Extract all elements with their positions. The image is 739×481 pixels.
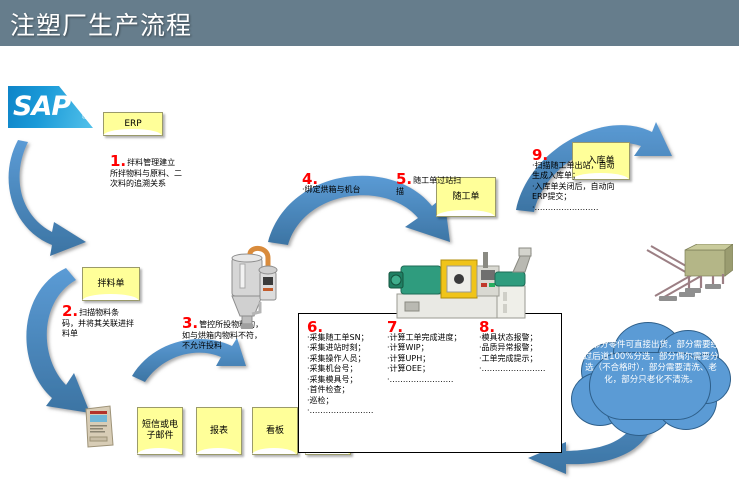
- list-item: ERP提交；: [532, 192, 636, 203]
- step-1-number: 1.: [110, 152, 126, 170]
- step-5: 5.随工单过站扫描: [396, 174, 468, 197]
- step-2-number: 2.: [62, 302, 78, 320]
- warehouse-rack-image: [645, 244, 733, 310]
- list-item: ·扫描随工单出站，自动: [532, 161, 636, 172]
- step-1: 1.拌料管理建立所拌物料与原料、二次料的追溯关系: [110, 156, 182, 190]
- step-6: 6. ·采集随工单SN；·采集进站时刻；·采集操作人员；·采集机台号；·采集模具…: [307, 322, 374, 417]
- list-item: ·品质异常报警；: [479, 343, 546, 354]
- step-4: 4. ·绑定烘箱与机台: [302, 174, 396, 195]
- page-title: 注塑厂生产流程: [10, 6, 192, 42]
- note-kanban[interactable]: 看板: [252, 407, 298, 455]
- material-bag-image: [82, 403, 116, 449]
- note-report[interactable]: 报表: [196, 407, 242, 455]
- list-item: ·入库单关闭后，自动向: [532, 182, 636, 193]
- list-item: ·计算工单完成进度；: [387, 333, 462, 344]
- step-4-number: 4.: [302, 174, 395, 185]
- list-item: ·采集操作人员；: [307, 354, 374, 365]
- diagram-canvas: SAP ® ERP 拌料单 随工单 入库单 短信或电子邮件 报表 看板 查询插件…: [0, 46, 739, 481]
- list-item: ·……………………: [387, 375, 462, 386]
- sap-logo-text: SAP: [13, 91, 70, 122]
- step-8-list: ·模具状态报警；·品质异常报警；·工单完成提示；·……………………: [479, 333, 546, 375]
- step-7: 7. ·计算工单完成进度；·计算WIP；·计算UPH；·计算OEE；·………………: [387, 322, 462, 385]
- step-2: 2.扫描物料条码，并将其关联进拌料单: [62, 306, 134, 340]
- arrow-sap-to-mixorder: [9, 140, 86, 256]
- list-item: ·采集进站时刻；: [307, 343, 374, 354]
- hopper-dryer-image: [216, 244, 286, 336]
- list-item: ·模具状态报警；: [479, 333, 546, 344]
- note-sms-email[interactable]: 短信或电子邮件: [137, 407, 183, 455]
- step-6-number: 6.: [307, 322, 373, 333]
- step-4-text: ·绑定烘箱与机台: [302, 185, 361, 194]
- list-item: ·计算OEE；: [387, 364, 462, 375]
- list-item: ·首件检查；: [307, 385, 374, 396]
- note-mix-order[interactable]: 拌料单: [82, 267, 140, 301]
- list-item: ·采集机台号；: [307, 364, 374, 375]
- detail-panel: 6. ·采集随工单SN；·采集进站时刻；·采集操作人员；·采集机台号；·采集模具…: [298, 313, 562, 453]
- note-erp[interactable]: ERP: [103, 112, 163, 136]
- list-item: ·采集模具号；: [307, 375, 374, 386]
- registered-mark-icon: ®: [82, 114, 87, 121]
- step-8: 8. ·模具状态报警；·品质异常报警；·工单完成提示；·……………………: [479, 322, 546, 375]
- list-item: ·……………………: [307, 406, 374, 417]
- step-9-number: 9.: [532, 150, 635, 161]
- list-item: 生成入库单；: [532, 171, 636, 182]
- step-3-number: 3.: [182, 314, 198, 332]
- list-item: ·计算UPH；: [387, 354, 462, 365]
- step-9-list: ·扫描随工单出站，自动生成入库单；·入库单关闭后，自动向ERP提交；·………………: [532, 161, 636, 214]
- title-bar: 注塑厂生产流程: [0, 0, 739, 46]
- list-item: ·巡检；: [307, 396, 374, 407]
- arrow-mixorder-to-dryer: [26, 268, 90, 413]
- list-item: ·……………………: [532, 203, 636, 214]
- step-9: 9. ·扫描随工单出站，自动生成入库单；·入库单关闭后，自动向ERP提交；·………: [532, 150, 636, 213]
- cloud-callout: 大部分零件可直接出货，部分需要经过后道100%分选，部分偶尔需要分选（不合格时）…: [571, 316, 731, 448]
- step-7-list: ·计算工单完成进度；·计算WIP；·计算UPH；·计算OEE；·……………………: [387, 333, 462, 386]
- step-5-number: 5.: [396, 170, 412, 188]
- sap-logo: SAP ®: [8, 86, 93, 128]
- list-item: ·……………………: [479, 364, 546, 375]
- injection-molding-machine-image: [385, 242, 537, 326]
- list-item: ·采集随工单SN；: [307, 333, 374, 344]
- list-item: ·工单完成提示；: [479, 354, 546, 365]
- step-6-list: ·采集随工单SN；·采集进站时刻；·采集操作人员；·采集机台号；·采集模具号；·…: [307, 333, 374, 417]
- list-item: ·计算WIP；: [387, 343, 462, 354]
- cloud-text: 大部分零件可直接出货，部分需要经过后道100%分选，部分偶尔需要分选（不合格时）…: [583, 340, 719, 386]
